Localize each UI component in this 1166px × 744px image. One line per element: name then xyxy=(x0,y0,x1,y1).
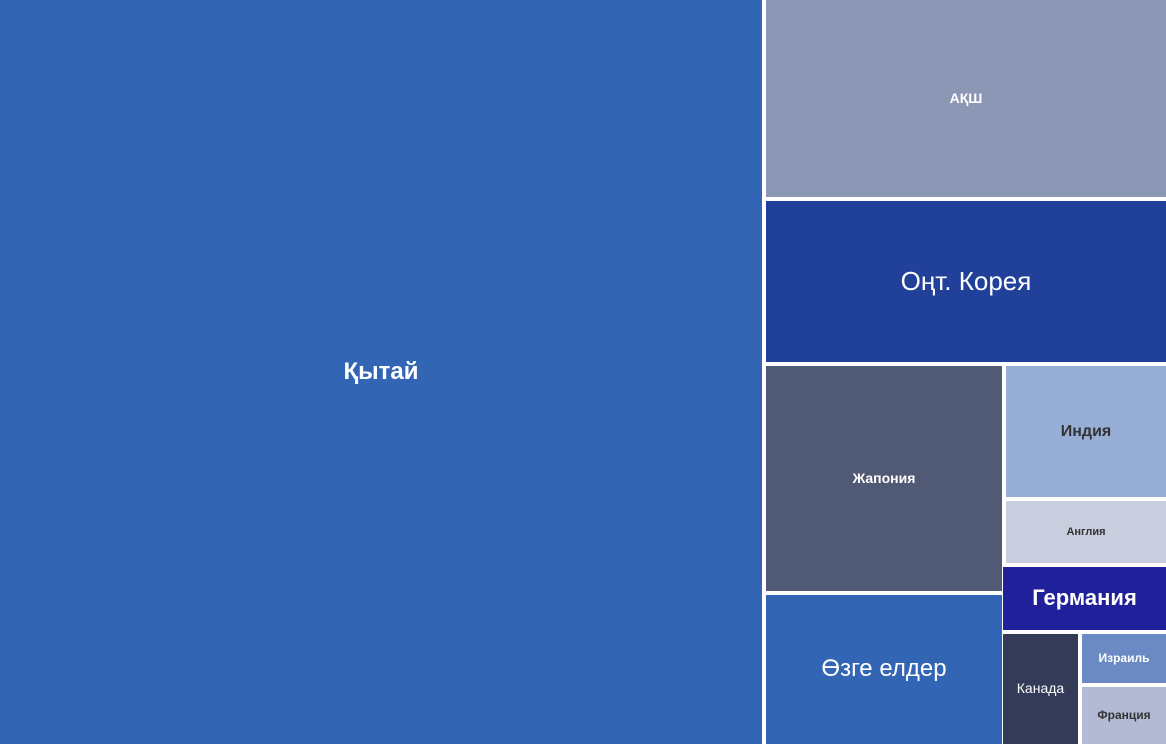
treemap-tile-label: Оңт. Корея xyxy=(899,267,1034,296)
treemap-tile[interactable]: Оңт. Корея xyxy=(766,201,1166,362)
treemap-tile-label: Германия xyxy=(1030,586,1139,610)
treemap-tile[interactable]: Канада xyxy=(1003,634,1078,744)
treemap-tile-label: Франция xyxy=(1095,709,1152,722)
treemap-tile[interactable]: Өзге елдер xyxy=(766,595,1002,744)
treemap-tile[interactable]: Қытай xyxy=(0,0,762,744)
treemap-tile-label: Канада xyxy=(1015,681,1066,696)
treemap-tile-label: Израиль xyxy=(1097,652,1152,665)
treemap-tile-label: Англия xyxy=(1064,526,1107,538)
treemap-chart: ҚытайАҚШОңт. КореяЖапонияӨзге елдерИндия… xyxy=(0,0,1166,744)
treemap-tile-label: Өзге елдер xyxy=(819,656,948,682)
treemap-tile[interactable]: Индия xyxy=(1006,366,1166,497)
treemap-tile[interactable]: АҚШ xyxy=(766,0,1166,197)
treemap-tile-label: АҚШ xyxy=(948,91,985,106)
treemap-tile-label: Қытай xyxy=(342,359,421,385)
treemap-tile-label: Жапония xyxy=(851,471,918,486)
treemap-tile-label: Индия xyxy=(1059,423,1114,441)
treemap-tile[interactable]: Франция xyxy=(1082,687,1166,744)
treemap-tile[interactable]: Англия xyxy=(1006,501,1166,563)
treemap-tile[interactable]: Жапония xyxy=(766,366,1002,591)
treemap-tile[interactable]: Германия xyxy=(1003,567,1166,630)
treemap-tile[interactable]: Израиль xyxy=(1082,634,1166,683)
